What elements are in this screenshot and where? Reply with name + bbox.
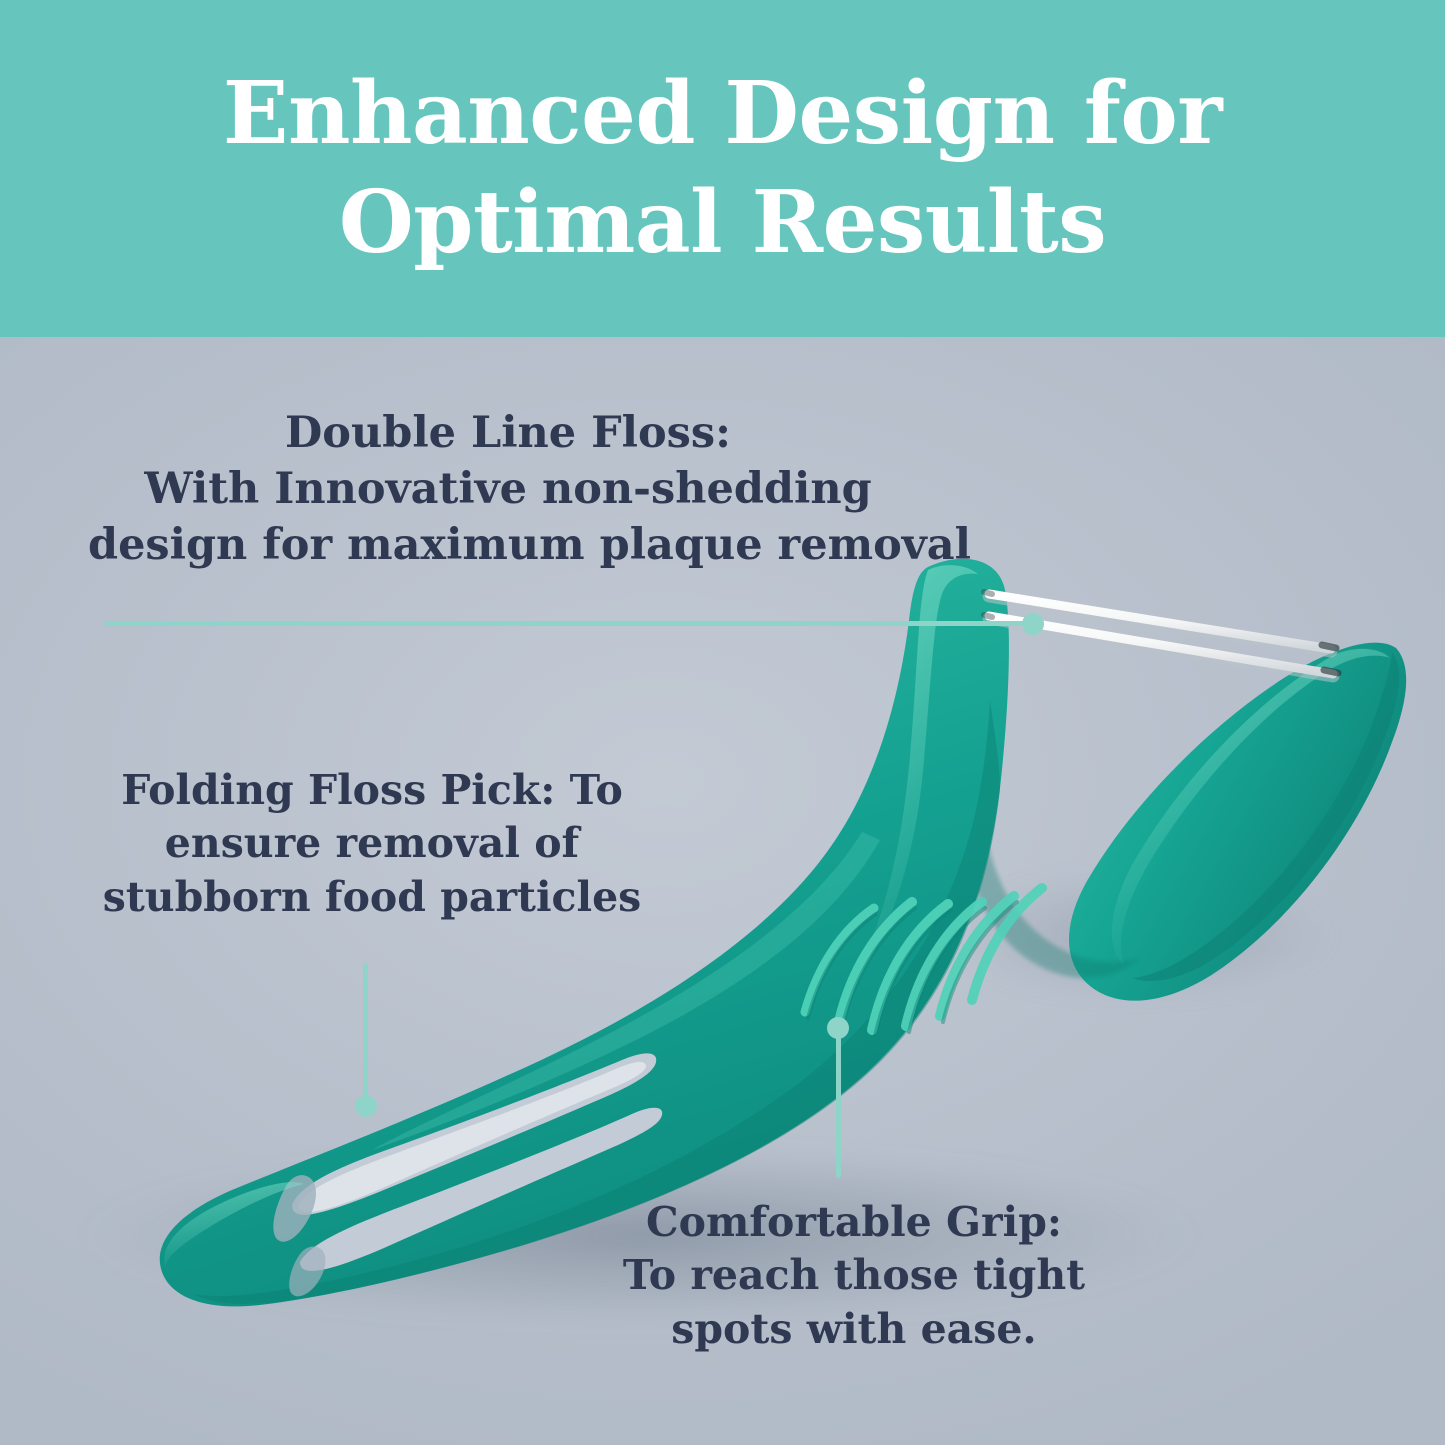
leader-line-pick bbox=[363, 963, 368, 1106]
callout-floss-line-3: design for maximum plaque removal bbox=[88, 518, 928, 574]
callout-pick-line-2: ensure removal of bbox=[92, 817, 652, 870]
leader-line-floss bbox=[103, 621, 1034, 626]
callout-grip-line-1: Comfortable Grip: bbox=[604, 1196, 1104, 1249]
page-title-line-2: Optimal Results bbox=[173, 169, 1273, 277]
leader-dot-floss bbox=[1022, 613, 1044, 635]
callout-comfortable-grip: Comfortable Grip: To reach those tight s… bbox=[604, 1196, 1104, 1356]
callout-pick-line-1: Folding Floss Pick: To bbox=[92, 764, 652, 817]
callout-folding-floss-pick: Folding Floss Pick: To ensure removal of… bbox=[92, 764, 652, 924]
leader-dot-grip bbox=[827, 1017, 849, 1039]
leader-dot-pick bbox=[355, 1095, 377, 1117]
callout-grip-line-2: To reach those tight bbox=[604, 1249, 1104, 1302]
header-band: Enhanced Design for Optimal Results bbox=[0, 0, 1445, 337]
infographic-root: Enhanced Design for Optimal Results bbox=[0, 0, 1445, 1445]
callout-double-line-floss: Double Line Floss: With Innovative non-s… bbox=[88, 406, 928, 574]
callout-grip-line-3: spots with ease. bbox=[604, 1303, 1104, 1356]
page-title-line-1: Enhanced Design for bbox=[223, 63, 1222, 164]
page-title: Enhanced Design for Optimal Results bbox=[173, 60, 1273, 277]
callout-pick-line-3: stubborn food particles bbox=[92, 871, 652, 924]
callout-floss-line-1: Double Line Floss: bbox=[88, 406, 928, 462]
leader-line-grip bbox=[836, 1030, 841, 1178]
callout-floss-line-2: With Innovative non-shedding bbox=[88, 462, 928, 518]
